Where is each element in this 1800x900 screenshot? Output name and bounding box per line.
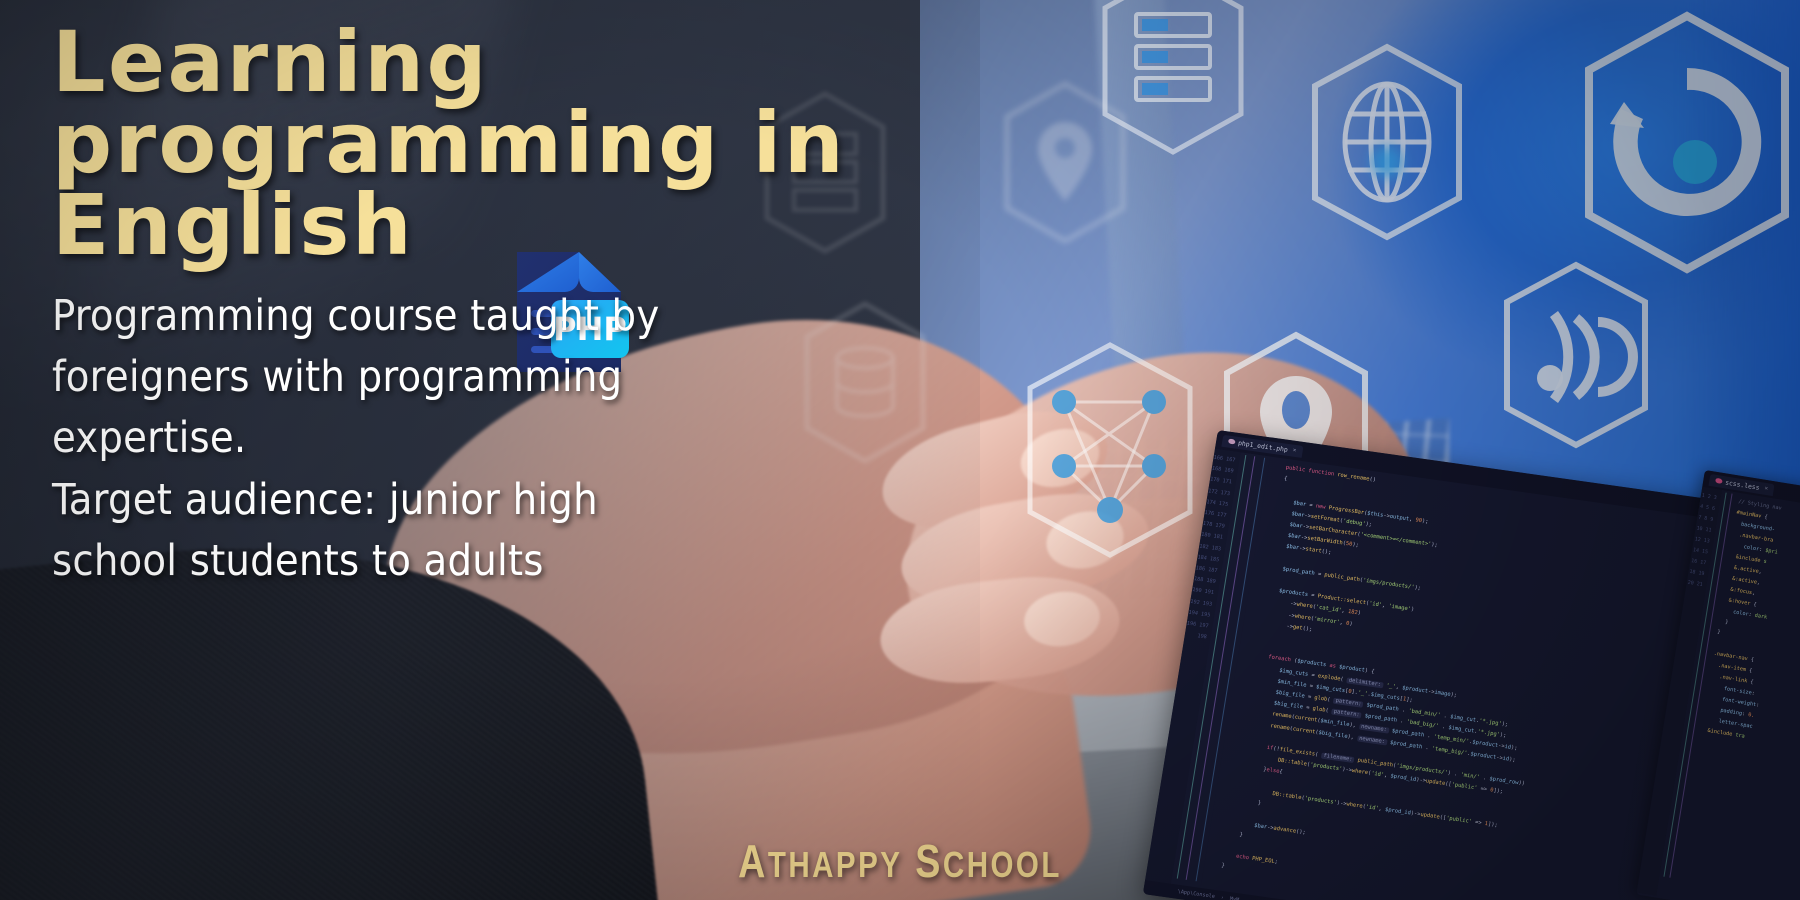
- promo-banner: PHP php1_edit.php × 166 167 168 169 170 …: [0, 0, 1800, 900]
- text-column: Learningprogramming inEnglish Programmin…: [52, 22, 952, 592]
- audience-line-2: school students to adults: [52, 531, 952, 592]
- brand-word1-lead: A: [738, 835, 768, 887]
- audience-line-1: Target audience: junior high: [52, 470, 952, 531]
- php-elephant-icon: [1228, 439, 1236, 445]
- headline-line-3: English: [52, 185, 952, 266]
- brand-word2-lead: S: [915, 835, 943, 887]
- brand-logo: ATHAPPY SCHOOL: [162, 834, 1638, 888]
- headline-line-2: programming in: [52, 103, 952, 184]
- description-line-1: Programming course taught by: [52, 286, 952, 347]
- brand-word2-rest: CHOOL: [943, 844, 1062, 885]
- description-text: Programming course taught byforeigners w…: [52, 286, 952, 591]
- editor-tab-label: php1_edit.php: [1238, 438, 1289, 453]
- status-path: \App\Console: [1177, 889, 1215, 900]
- sass-icon: [1715, 478, 1723, 484]
- editor2-tab-label: scss.less: [1725, 478, 1760, 491]
- brand-word1-rest: THAPPY: [768, 844, 903, 885]
- status-mode: MyM: [1229, 896, 1239, 900]
- close-icon[interactable]: ×: [1292, 447, 1297, 454]
- status-separator: ›: [1220, 895, 1224, 900]
- description-line-3: expertise.: [52, 408, 952, 469]
- close-icon[interactable]: ×: [1764, 485, 1769, 492]
- description-line-2: foreigners with programming: [52, 347, 952, 408]
- page-title: Learningprogramming inEnglish: [52, 22, 952, 266]
- headline-line-1: Learning: [52, 22, 952, 103]
